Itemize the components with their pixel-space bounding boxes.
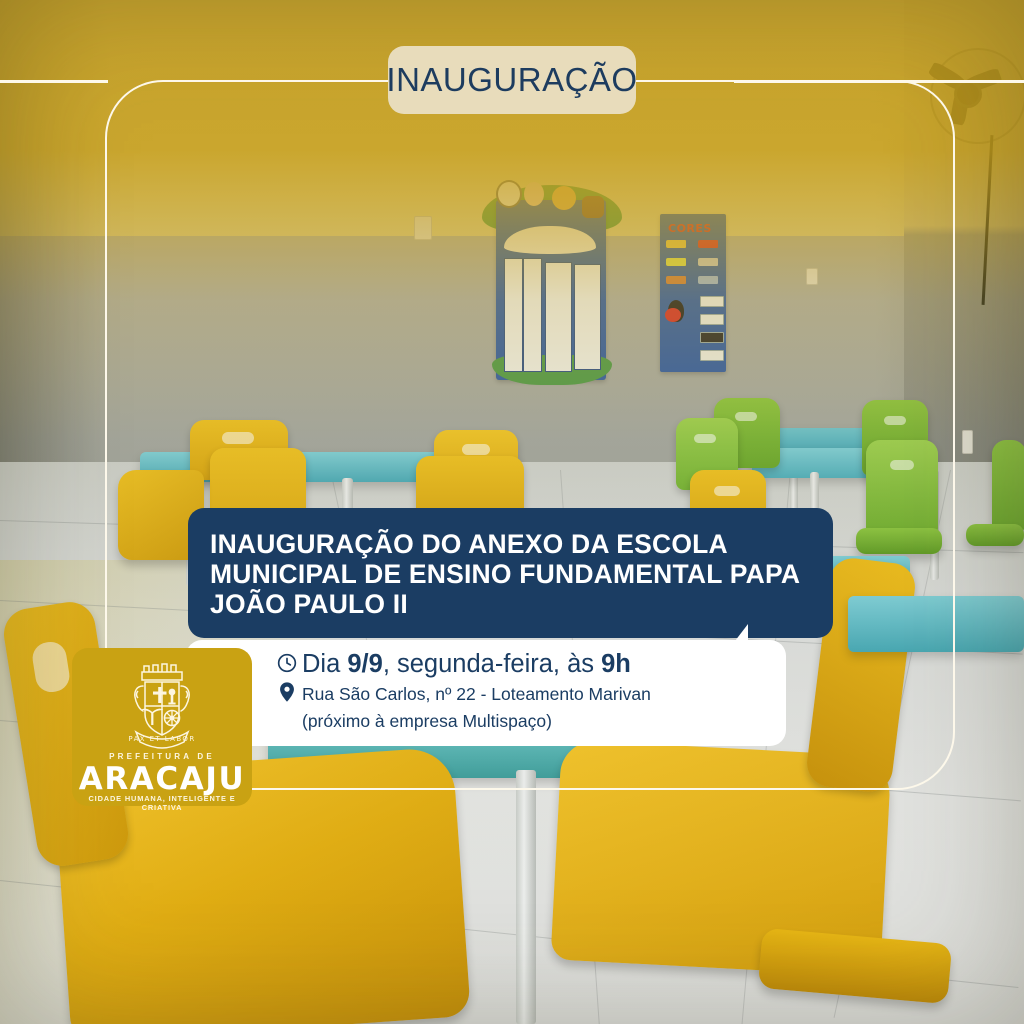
logo-name: ARACAJU — [72, 761, 252, 797]
header-badge: INAUGURAÇÃO — [388, 46, 636, 114]
map-pin-icon — [276, 679, 298, 702]
address-line: Rua São Carlos, nº 22 - Loteamento Mariv… — [302, 683, 651, 705]
address-note: (próximo à empresa Multispaço) — [302, 710, 651, 732]
page-title: INAUGURAÇÃO DO ANEXO DA ESCOLA MUNICIPAL… — [210, 530, 825, 620]
frame-line-left — [0, 80, 108, 83]
details-panel: Dia 9/9, segunda-feira, às 9h Rua São Ca… — [186, 640, 786, 746]
logo-tagline: CIDADE HUMANA, INTELIGENTE E CRIATIVA — [72, 794, 252, 812]
date-middle: , segunda-feira, às — [383, 650, 601, 678]
clock-icon — [276, 650, 298, 673]
date-time: 9h — [601, 650, 631, 678]
date-text: Dia 9/9, segunda-feira, às 9h — [302, 650, 631, 679]
headline-panel: INAUGURAÇÃO DO ANEXO DA ESCOLA MUNICIPAL… — [188, 508, 833, 638]
address-block: Rua São Carlos, nº 22 - Loteamento Mariv… — [302, 679, 651, 732]
poster-canvas: CORES — [0, 0, 1024, 1024]
aracaju-coat-of-arms-icon: PAX ET LABOR — [114, 656, 210, 759]
frame-line-right — [734, 80, 1024, 83]
location-row: Rua São Carlos, nº 22 - Loteamento Mariv… — [276, 679, 772, 732]
logo-prefix: PREFEITURA DE — [72, 752, 252, 761]
header-badge-label: INAUGURAÇÃO — [386, 61, 637, 99]
date-value: 9/9 — [347, 650, 382, 678]
date-prefix: Dia — [302, 650, 347, 678]
aracaju-logo-block: PAX ET LABOR PREFEITURA DE ARACAJU CIDAD… — [72, 648, 252, 806]
svg-text:PAX ET LABOR: PAX ET LABOR — [128, 735, 195, 743]
date-row: Dia 9/9, segunda-feira, às 9h — [276, 650, 772, 679]
